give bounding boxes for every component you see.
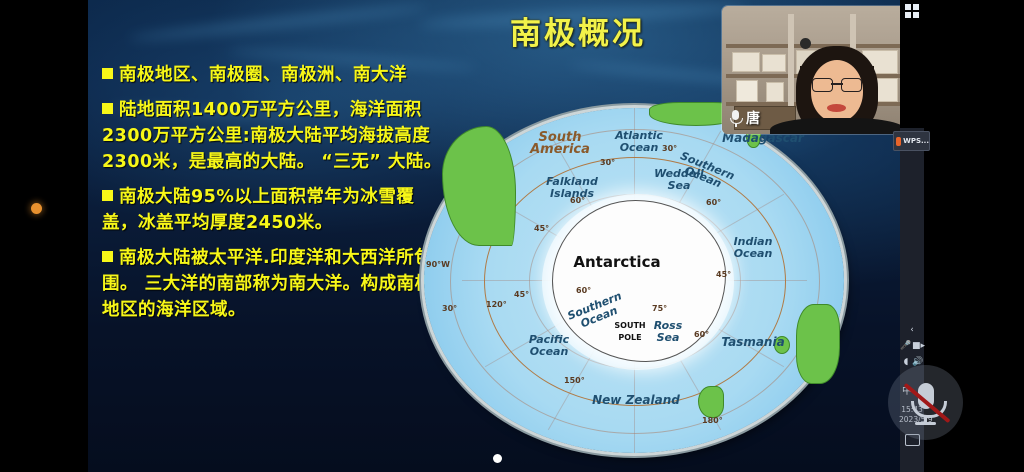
bullet-square-icon xyxy=(102,251,113,262)
bullet-text: 南极大陆被太平洋.印度洋和大西洋所包围。 三大洋的南部称为南大洋。构成南极地区的… xyxy=(102,248,433,320)
microphone-icon[interactable]: 🎤 xyxy=(900,341,912,351)
map-tick: 60° xyxy=(570,196,585,205)
decor-ball xyxy=(800,38,811,49)
wps-label: WPS... xyxy=(903,137,929,145)
page-dot-active[interactable] xyxy=(493,454,502,463)
map-tick-90w: 90°W xyxy=(426,260,450,269)
slide-page-indicator[interactable] xyxy=(493,450,533,462)
map-tick: 30° xyxy=(442,304,457,313)
slide-bullet-list: 南极地区、南极圈、南极洲、南大洋 陆地面积1400万平方公里，海洋面积2300万… xyxy=(102,62,442,332)
map-tick-180: 180° xyxy=(702,416,723,425)
map-label-south-america: South America xyxy=(512,132,608,156)
map-label-antarctica: Antarctica xyxy=(562,256,672,268)
bullet-square-icon xyxy=(102,68,113,79)
map-tick: 45° xyxy=(716,270,731,279)
windows-logo-icon[interactable] xyxy=(905,4,920,18)
bullet-item-2: 陆地面积1400万平方公里，海洋面积2300万平方公里:南极大陆平均海拔高度23… xyxy=(102,97,442,175)
status-dot xyxy=(31,203,42,214)
bullet-text: 南极地区、南极圈、南极洲、南大洋 xyxy=(119,65,407,85)
map-label-new-zealand: New Zealand xyxy=(582,394,690,406)
antarctica-map: South America Atlantic Ocean Falkland Is… xyxy=(424,108,844,453)
map-label-indian-ocean: Indian Ocean xyxy=(724,236,782,260)
map-tick: 60° xyxy=(706,198,721,207)
slide-title: 南极概况 xyxy=(428,8,728,53)
bullet-item-1: 南极地区、南极圈、南极洲、南大洋 xyxy=(102,62,442,88)
shelf-box xyxy=(762,54,786,72)
microphone-icon xyxy=(730,110,741,127)
map-tick-150: 150° xyxy=(564,376,585,385)
screen: 南极概况 南极地区、南极圈、南极洲、南大洋 陆地面积1400万平方公里，海洋面积… xyxy=(0,0,1024,472)
map-tick: 30° xyxy=(600,158,615,167)
map-tick: 60° xyxy=(576,286,591,295)
land-new-zealand xyxy=(698,386,724,418)
shelf-box xyxy=(732,52,760,72)
chevron-up-icon[interactable]: ‹ xyxy=(902,325,922,335)
map-label-pacific-ocean: Pacific Ocean xyxy=(520,334,578,358)
land-australia xyxy=(796,304,840,384)
avatar-glasses xyxy=(812,78,862,90)
avatar-lips xyxy=(827,104,846,112)
microphone-muted-icon xyxy=(888,365,963,440)
map-label-south-pole: SOUTH POLE xyxy=(606,320,654,344)
shelf-box xyxy=(766,82,784,102)
camera-icon[interactable]: ■▸ xyxy=(912,341,924,351)
water-streak xyxy=(128,2,427,43)
map-tick: 45° xyxy=(514,290,529,299)
bullet-square-icon xyxy=(102,190,113,201)
participant-badge: 唐 xyxy=(730,108,760,128)
wps-icon xyxy=(896,137,901,146)
map-tick: 30° xyxy=(662,144,677,153)
bullet-item-3: 南极大陆95%以上面积常年为冰雪覆盖，冰盖平均厚度2450米。 xyxy=(102,184,442,236)
bullet-square-icon xyxy=(102,103,113,114)
map-tick: 45° xyxy=(534,224,549,233)
wifi-icon[interactable]: ◖ xyxy=(900,357,912,367)
bullet-item-4: 南极大陆被太平洋.印度洋和大西洋所包围。 三大洋的南部称为南大洋。构成南极地区的… xyxy=(102,245,442,323)
avatar-shoulders xyxy=(770,118,906,134)
glasses-lens xyxy=(841,78,862,92)
glasses-lens xyxy=(812,78,833,92)
map-tick-75: 75° xyxy=(652,304,667,313)
map-tick: 60° xyxy=(694,330,709,339)
map-tick-120: 120° xyxy=(486,300,507,309)
bullet-text: 南极大陆95%以上面积常年为冰雪覆盖，冰盖平均厚度2450米。 xyxy=(102,187,414,233)
map-label-tasmania: Tasmania xyxy=(720,336,786,348)
wps-taskbar-item[interactable]: WPS... xyxy=(893,131,930,151)
bullet-text: 陆地面积1400万平方公里，海洋面积2300万平方公里:南极大陆平均海拔高度23… xyxy=(102,100,442,172)
participant-name: 唐 xyxy=(746,108,760,128)
shelf-box xyxy=(736,80,758,102)
